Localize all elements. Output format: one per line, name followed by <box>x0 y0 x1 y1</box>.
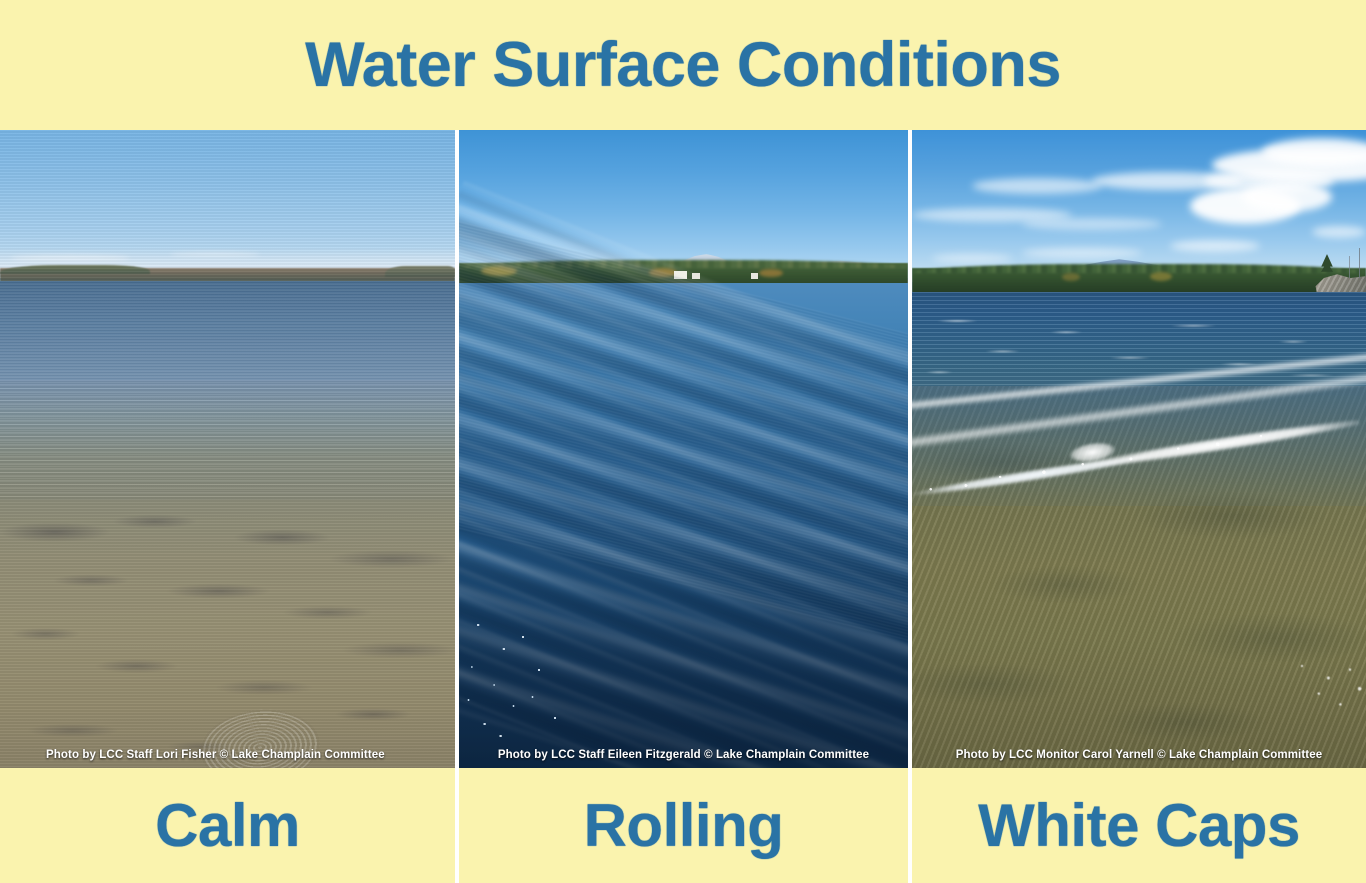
water-distant <box>0 281 455 386</box>
label-calm: Calm <box>155 796 300 856</box>
choppy-whitecaps <box>912 305 1366 385</box>
photo-calm <box>0 130 455 768</box>
photo-credit-rolling: Photo by LCC Staff Eileen Fitzgerald © L… <box>459 749 908 761</box>
cloud-icon <box>972 178 1102 194</box>
cloud-icon <box>932 254 1012 263</box>
label-band: Calm Rolling White Caps <box>0 768 1366 883</box>
cloud-icon <box>1312 226 1366 238</box>
panel-divider-right <box>908 130 912 883</box>
label-cell-white-caps: White Caps <box>912 768 1366 883</box>
cloud-icon <box>1022 248 1142 258</box>
utility-pole <box>1359 248 1360 278</box>
autumn-foliage <box>1150 272 1172 281</box>
label-white-caps: White Caps <box>978 796 1300 856</box>
page-title: Water Surface Conditions <box>305 34 1061 97</box>
cloud-icon <box>1170 240 1260 252</box>
photo-credit-white-caps: Photo by LCC Monitor Carol Yarnell © Lak… <box>912 749 1366 761</box>
panel-divider-left <box>455 130 459 883</box>
photo-panel-calm: Photo by LCC Staff Lori Fisher © Lake Ch… <box>0 130 455 768</box>
poster: Water Surface Conditions Photo by LCC St… <box>0 0 1366 883</box>
autumn-foliage <box>1062 273 1080 281</box>
cloud-icon <box>1022 218 1162 230</box>
shoreline-building <box>751 273 758 279</box>
foam-bubbles <box>1266 654 1366 714</box>
utility-pole <box>1349 256 1350 278</box>
photo-panel-group: Photo by LCC Staff Lori Fisher © Lake Ch… <box>0 130 1366 768</box>
far-shore-treeline <box>912 268 1366 294</box>
shoreline-trees-right <box>385 266 455 277</box>
water-sparkle <box>459 598 619 748</box>
shoreline-trees <box>0 265 150 274</box>
photo-panel-white-caps: Photo by LCC Monitor Carol Yarnell © Lak… <box>912 130 1366 768</box>
label-rolling: Rolling <box>584 796 784 856</box>
photo-white-caps <box>912 130 1366 768</box>
label-cell-calm: Calm <box>0 768 455 883</box>
photo-panel-rolling: Photo by LCC Staff Eileen Fitzgerald © L… <box>459 130 908 768</box>
photo-rolling <box>459 130 908 768</box>
cloud-icon <box>1242 182 1332 212</box>
label-cell-rolling: Rolling <box>459 768 908 883</box>
title-bar: Water Surface Conditions <box>0 0 1366 130</box>
water-middle <box>0 380 455 510</box>
autumn-foliage <box>759 269 783 277</box>
photo-credit-calm: Photo by LCC Staff Lori Fisher © Lake Ch… <box>0 749 455 761</box>
